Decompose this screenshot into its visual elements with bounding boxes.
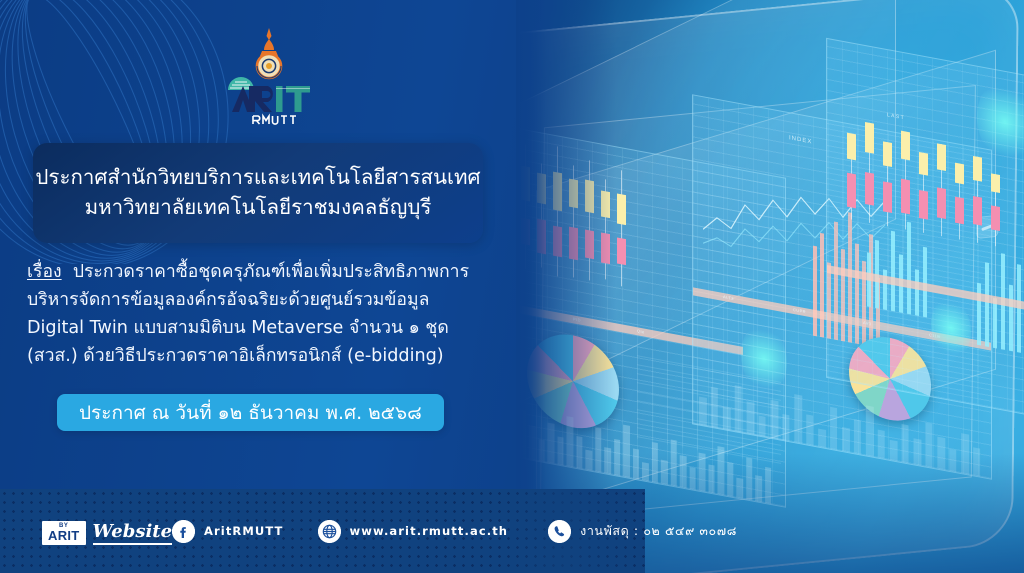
footer-website[interactable]: www.arit.rmutt.ac.th	[318, 520, 509, 543]
phone-icon	[548, 520, 571, 543]
footer-facebook[interactable]: AritRMUTT	[172, 520, 284, 543]
body-line-2: บริหารจัดการข้อมูลองค์กรอัจฉริยะด้วยศูนย…	[27, 286, 497, 314]
arit-white-box: BY ARIT	[42, 521, 86, 545]
announcement-body: เรื่อง ประกวดราคาซื้อชุดครุภัณฑ์เพื่อเพิ…	[27, 258, 497, 371]
content-panel: ประกาศสำนักวิทยบริการและเทคโนโลยีสารสนเท…	[0, 0, 520, 573]
title-line-2: มหาวิทยาลัยเทคโนโลยีราชมงคลธัญบุรี	[85, 193, 432, 223]
subject-label: เรื่อง	[27, 262, 62, 282]
body-line-3: Digital Twin แบบสามมิติบน Metaverse จำนว…	[27, 314, 497, 342]
body-line-4: (สวส.) ด้วยวิธีประกวดราคาอิเล็กทรอนิกส์ …	[27, 342, 497, 370]
announcement-date-text: ประกาศ ณ วันที่ ๑๒ ธันวาคม พ.ศ. ๒๕๖๘	[79, 398, 422, 428]
title-line-1: ประกาศสำนักวิทยบริการและเทคโนโลยีสารสนเท…	[35, 163, 480, 193]
royal-emblem	[257, 28, 281, 78]
globe-icon	[318, 520, 341, 543]
footer-facebook-label: AritRMUTT	[204, 524, 284, 538]
arit-rmutt-logo	[214, 26, 324, 126]
by-arit-website-badge[interactable]: BY ARIT Website	[42, 521, 172, 545]
byarit-arit-label: ARIT	[48, 529, 80, 542]
facebook-icon	[172, 520, 195, 543]
footer-phone[interactable]: งานพัสดุ : ๐๒ ๕๔๙ ๓๐๗๘	[548, 520, 737, 543]
body-line-1: เรื่อง ประกวดราคาซื้อชุดครุภัณฑ์เพื่อเพิ…	[27, 258, 497, 286]
logo-wordmark	[232, 86, 310, 112]
footer-website-label: www.arit.rmutt.ac.th	[350, 524, 509, 538]
dashboard-panel-3: LAST	[826, 38, 1024, 422]
byarit-website-label: Website	[93, 521, 173, 545]
poster-canvas: DAT PID Qte	[0, 0, 1024, 573]
announcement-title-card: ประกาศสำนักวิทยบริการและเทคโนโลยีสารสนเท…	[33, 143, 483, 243]
logo-subtext	[253, 116, 296, 124]
announcement-date-badge: ประกาศ ณ วันที่ ๑๒ ธันวาคม พ.ศ. ๒๕๖๘	[57, 394, 444, 431]
footer-phone-label: งานพัสดุ : ๐๒ ๕๔๙ ๓๐๗๘	[580, 521, 737, 541]
body-text-1: ประกวดราคาซื้อชุดครุภัณฑ์เพื่อเพิ่มประสิ…	[73, 262, 469, 282]
holographic-dashboard-artwork: DAT PID Qte	[496, 0, 1024, 573]
